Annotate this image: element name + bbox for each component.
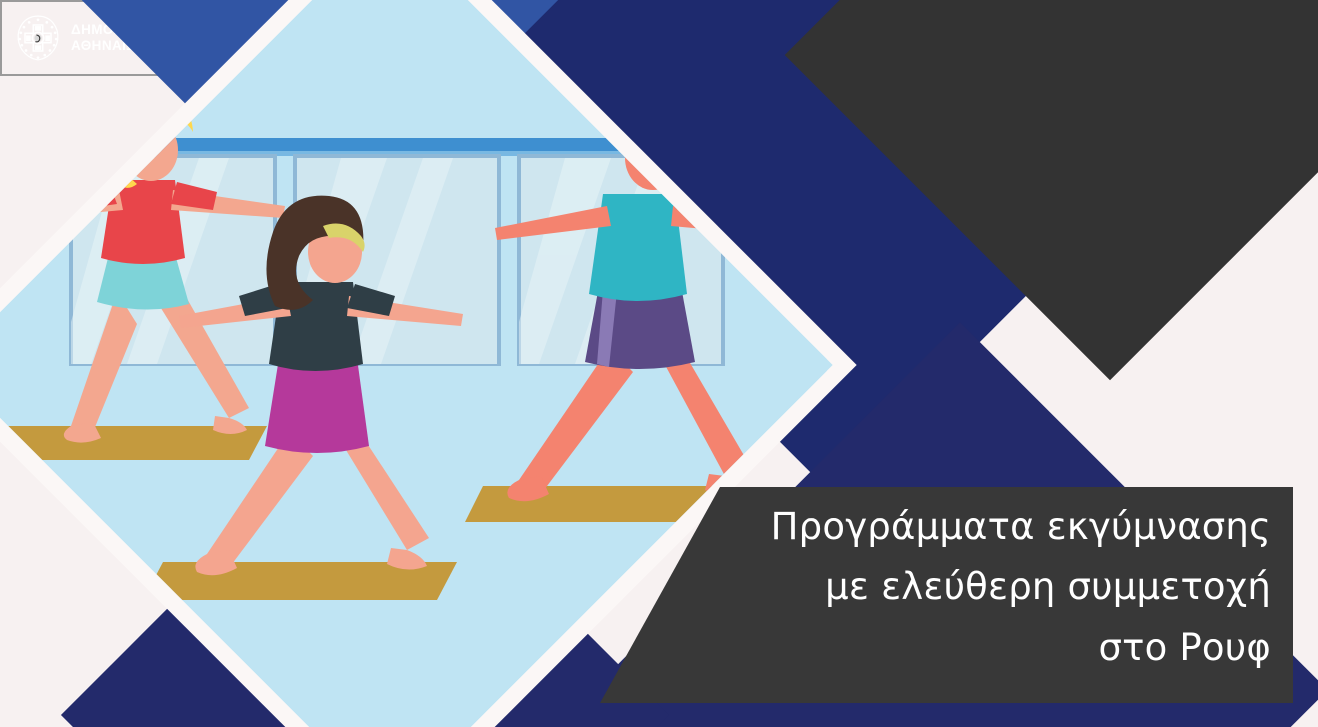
title-panel: Προγράμματα εκγύμνασης με ελεύθερη συμμε…	[600, 487, 1293, 703]
page-title: Προγράμματα εκγύμνασης με ελεύθερη συμμε…	[651, 497, 1271, 678]
title-line-1: Προγράμματα εκγύμνασης	[651, 497, 1271, 557]
yoga-studio-illustration	[77, 52, 703, 678]
title-line-2: με ελεύθερη συμμετοχή	[651, 557, 1271, 617]
title-line-3: στο Ρουφ	[651, 618, 1271, 678]
poster-canvas: ΔΗΜΟΣ ΑΘΗΝΑΙΩΝ οπανδα οργανισμός πολιτισ…	[0, 0, 1318, 727]
dimos-athinaion-emblem	[12, 12, 64, 64]
